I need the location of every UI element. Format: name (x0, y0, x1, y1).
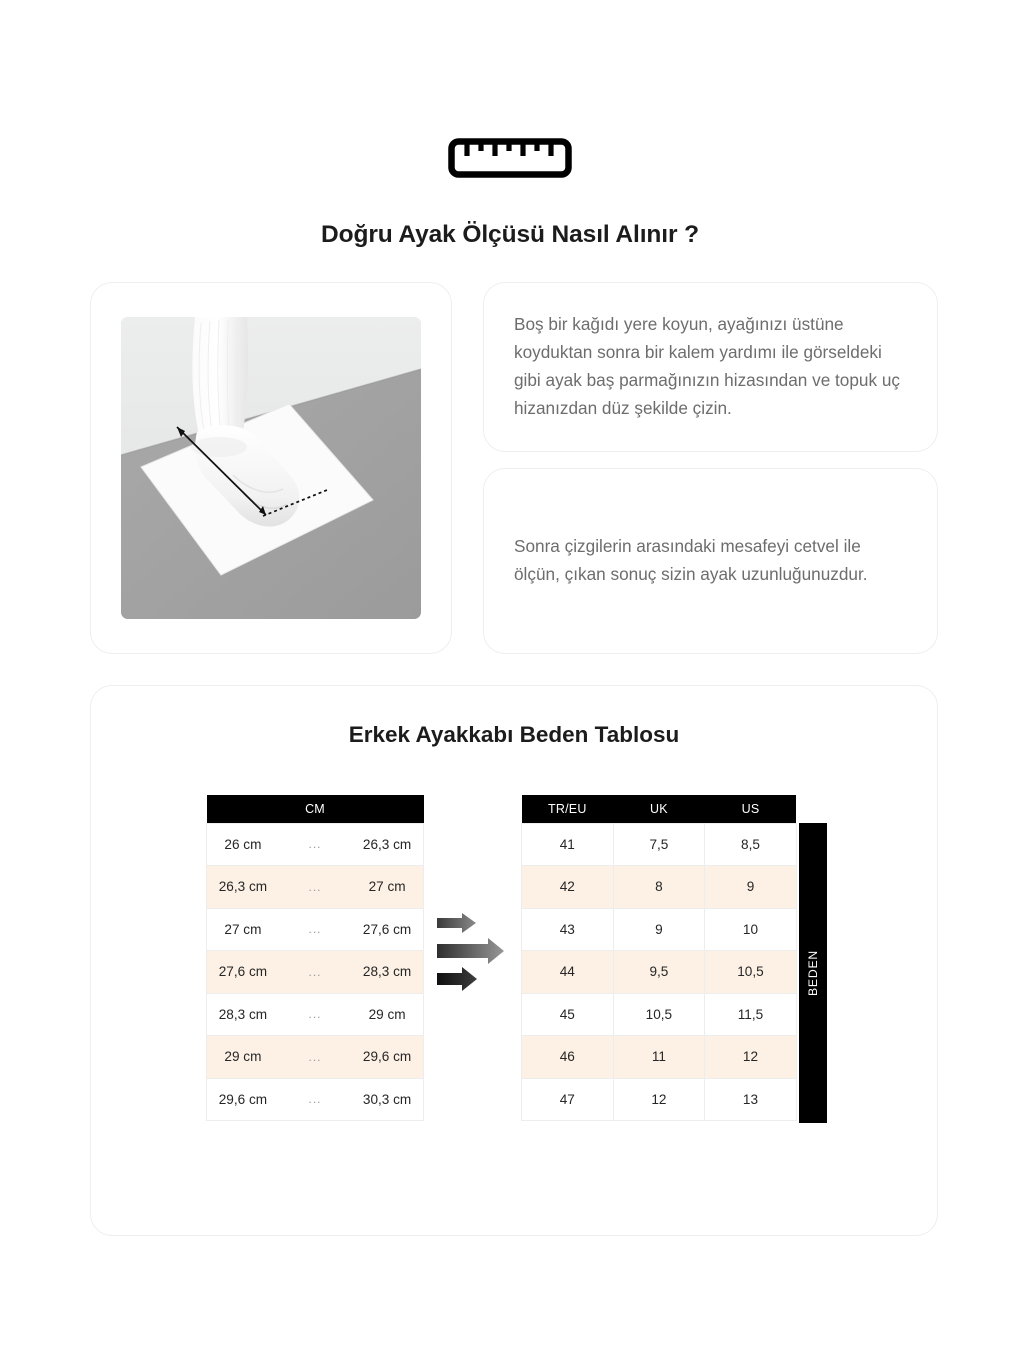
tr-eu-cell: 46 (522, 1036, 614, 1079)
cm-low-cell: 26 cm (207, 823, 279, 866)
table-row: 29,6 cm ... 30,3 cm (207, 1078, 424, 1121)
cm-low-cell: 27 cm (207, 908, 279, 951)
cm-high-cell: 26,3 cm (351, 823, 423, 866)
table-row: 41 7,5 8,5 (522, 823, 797, 866)
size-table-title: Erkek Ayakkabı Beden Tablosu (91, 722, 937, 748)
uk-cell: 8 (613, 866, 705, 909)
cm-table-body: 26 cm ... 26,3 cm 26,3 cm ... 27 cm 27 c… (207, 823, 424, 1121)
table-row: 43 9 10 (522, 908, 797, 951)
three-right-arrows-icon (436, 913, 508, 991)
us-cell: 10,5 (705, 951, 797, 994)
cm-dots-cell: ... (279, 866, 351, 909)
cm-low-cell: 29,6 cm (207, 1078, 279, 1121)
page-header: Doğru Ayak Ölçüsü Nasıl Alınır ? (0, 138, 1020, 249)
us-cell: 12 (705, 1036, 797, 1079)
us-cell: 11,5 (705, 993, 797, 1036)
tr-eu-cell: 44 (522, 951, 614, 994)
cm-dots-cell: ... (279, 908, 351, 951)
cm-low-cell: 26,3 cm (207, 866, 279, 909)
cm-dots-cell: ... (279, 1036, 351, 1079)
us-cell: 10 (705, 908, 797, 951)
table-row: 47 12 13 (522, 1078, 797, 1121)
cm-dots-cell: ... (279, 823, 351, 866)
cm-high-cell: 29 cm (351, 993, 423, 1036)
beden-vertical-bar: BEDEN (799, 823, 827, 1123)
us-cell: 9 (705, 866, 797, 909)
size-table-body: 41 7,5 8,5 42 8 9 43 9 10 44 9,5 10, (522, 823, 797, 1121)
table-row: 42 8 9 (522, 866, 797, 909)
header-us: US (705, 795, 797, 823)
cm-dots-cell: ... (279, 993, 351, 1036)
instruction-card-2: Sonra çizgilerin arasındaki mesafeyi cet… (483, 468, 938, 654)
size-table-card: Erkek Ayakkabı Beden Tablosu CM 26 cm ..… (90, 685, 938, 1236)
cm-header-cell: CM (207, 795, 424, 823)
page-title: Doğru Ayak Ölçüsü Nasıl Alınır ? (0, 221, 1020, 249)
beden-label: BEDEN (806, 950, 820, 996)
uk-cell: 9,5 (613, 951, 705, 994)
measurement-guide-row: Boş bir kağıdı yere koyun, ayağınızı üst… (90, 282, 938, 654)
cm-low-cell: 27,6 cm (207, 951, 279, 994)
table-row: 26,3 cm ... 27 cm (207, 866, 424, 909)
foot-photo-card (90, 282, 452, 654)
tr-eu-cell: 45 (522, 993, 614, 1036)
cm-high-cell: 30,3 cm (351, 1078, 423, 1121)
header-uk: UK (613, 795, 705, 823)
cm-header-row: CM (207, 795, 424, 823)
cm-low-cell: 29 cm (207, 1036, 279, 1079)
table-row: 46 11 12 (522, 1036, 797, 1079)
ruler-icon (448, 138, 572, 178)
table-row: 29 cm ... 29,6 cm (207, 1036, 424, 1079)
us-cell: 13 (705, 1078, 797, 1121)
tr-eu-cell: 42 (522, 866, 614, 909)
table-row: 45 10,5 11,5 (522, 993, 797, 1036)
table-row: 27 cm ... 27,6 cm (207, 908, 424, 951)
uk-cell: 12 (613, 1078, 705, 1121)
table-row: 44 9,5 10,5 (522, 951, 797, 994)
cm-dots-cell: ... (279, 951, 351, 994)
uk-cell: 7,5 (613, 823, 705, 866)
cm-low-cell: 28,3 cm (207, 993, 279, 1036)
tr-eu-cell: 47 (522, 1078, 614, 1121)
size-header-row: TR/EU UK US (522, 795, 797, 823)
size-table-head: TR/EU UK US (522, 795, 797, 823)
header-tr-eu: TR/EU (522, 795, 614, 823)
cm-high-cell: 29,6 cm (351, 1036, 423, 1079)
uk-cell: 11 (613, 1036, 705, 1079)
cm-table-head: CM (207, 795, 424, 823)
instruction-text-2: Sonra çizgilerin arasındaki mesafeyi cet… (514, 533, 907, 589)
cm-dots-cell: ... (279, 1078, 351, 1121)
uk-cell: 10,5 (613, 993, 705, 1036)
cm-table: CM 26 cm ... 26,3 cm 26,3 cm ... 27 cm 2… (206, 795, 424, 1121)
tr-eu-cell: 43 (522, 908, 614, 951)
tr-eu-cell: 41 (522, 823, 614, 866)
us-cell: 8,5 (705, 823, 797, 866)
cm-high-cell: 27,6 cm (351, 908, 423, 951)
cm-high-cell: 27 cm (351, 866, 423, 909)
size-conversion-table: TR/EU UK US 41 7,5 8,5 42 8 9 43 (521, 795, 797, 1121)
table-row: 27,6 cm ... 28,3 cm (207, 951, 424, 994)
instruction-text-1: Boş bir kağıdı yere koyun, ayağınızı üst… (514, 311, 907, 422)
table-row: 26 cm ... 26,3 cm (207, 823, 424, 866)
foot-measurement-photo (121, 317, 421, 619)
cm-high-cell: 28,3 cm (351, 951, 423, 994)
instruction-card-1: Boş bir kağıdı yere koyun, ayağınızı üst… (483, 282, 938, 452)
table-row: 28,3 cm ... 29 cm (207, 993, 424, 1036)
uk-cell: 9 (613, 908, 705, 951)
size-tables-wrapper: CM 26 cm ... 26,3 cm 26,3 cm ... 27 cm 2… (91, 795, 939, 1135)
